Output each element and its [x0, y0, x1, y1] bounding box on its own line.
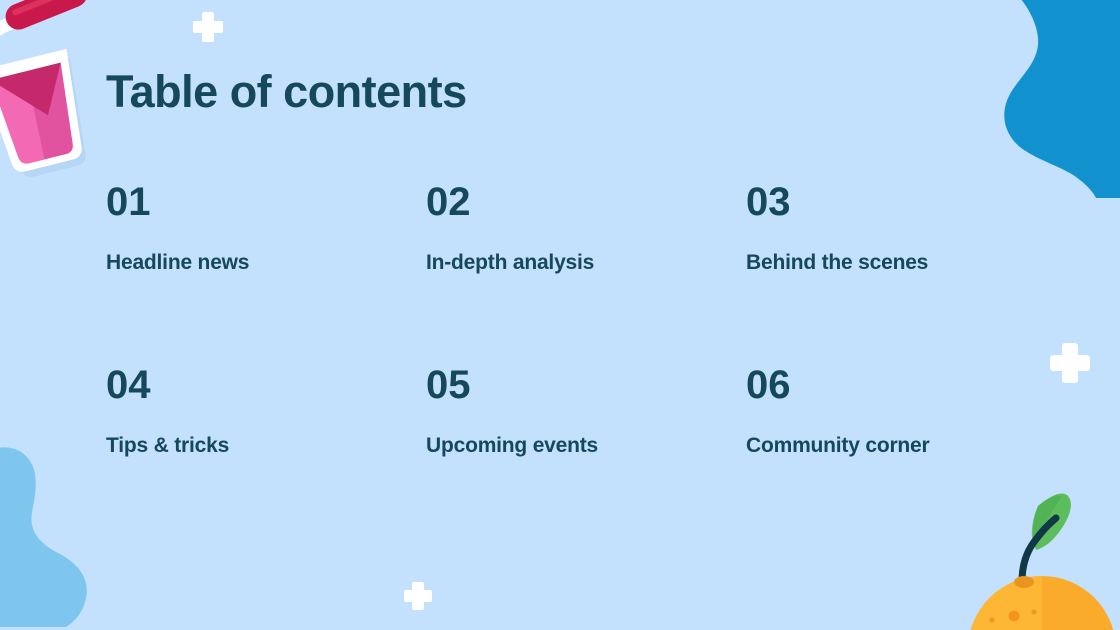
toc-item-06[interactable]: 06 Community corner	[746, 365, 1036, 458]
page-title: Table of contents	[106, 66, 467, 118]
toc-item-01[interactable]: 01 Headline news	[106, 182, 426, 275]
toc-number: 03	[746, 182, 1036, 222]
table-of-contents-grid: 01 Headline news 02 In-depth analysis 03…	[106, 182, 1036, 458]
toc-label: Tips & tricks	[106, 433, 426, 458]
toc-number: 06	[746, 365, 1036, 405]
toc-item-04[interactable]: 04 Tips & tricks	[106, 365, 426, 458]
toc-number: 05	[426, 365, 746, 405]
toc-label: In-depth analysis	[426, 250, 746, 275]
toc-label: Behind the scenes	[746, 250, 1036, 275]
toc-item-05[interactable]: 05 Upcoming events	[426, 365, 746, 458]
toc-number: 04	[106, 365, 426, 405]
slide-content: Table of contents 01 Headline news 02 In…	[0, 0, 1120, 630]
toc-number: 01	[106, 182, 426, 222]
toc-label: Upcoming events	[426, 433, 746, 458]
toc-label: Community corner	[746, 433, 1036, 458]
slide-canvas: Table of contents 01 Headline news 02 In…	[0, 0, 1120, 630]
toc-item-02[interactable]: 02 In-depth analysis	[426, 182, 746, 275]
toc-item-03[interactable]: 03 Behind the scenes	[746, 182, 1036, 275]
toc-label: Headline news	[106, 250, 426, 275]
toc-number: 02	[426, 182, 746, 222]
